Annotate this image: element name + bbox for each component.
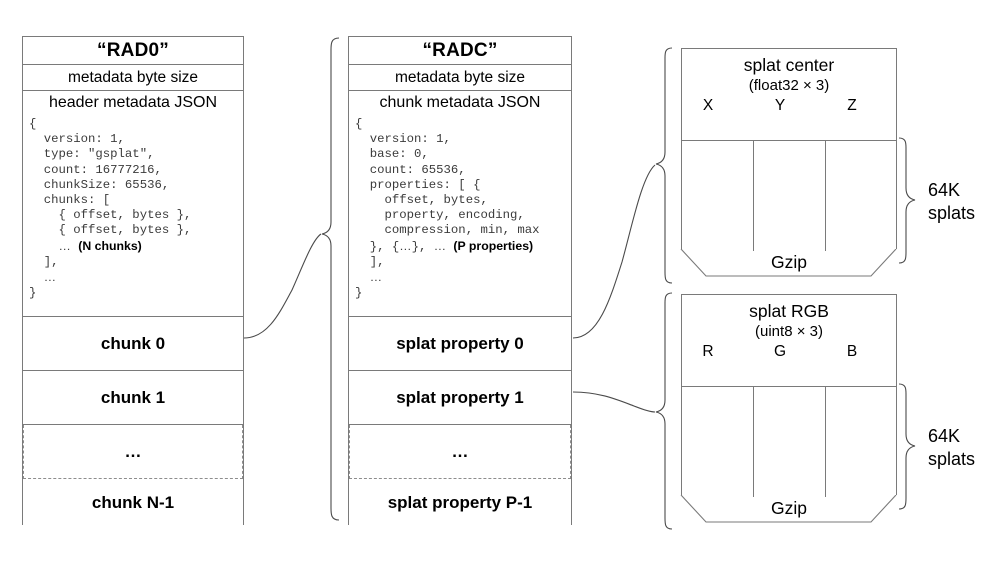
lane-divider-yz — [825, 141, 826, 251]
channel-label-y: Y — [760, 97, 800, 115]
header-magic-label: “RAD0” — [97, 40, 169, 62]
channel-label-r: R — [688, 343, 728, 361]
splat-count-center-line1: 64K — [928, 180, 960, 200]
chunk-json-heading-row: chunk metadata JSON — [349, 91, 571, 114]
splat-rgb-box: splat RGB (uint8 × 3) R G B — [681, 294, 897, 495]
header-column: “RAD0” metadata byte size header metadat… — [22, 36, 244, 525]
chunk-row-property-1-label: splat property 1 — [396, 388, 524, 408]
connector-prop0-to-center — [573, 165, 655, 338]
chunk-json-bold: (P properties) — [453, 239, 533, 253]
chunk-json-body: { version: 1, base: 0, count: 65536, pro… — [349, 114, 571, 301]
splat-rgb-lanes — [682, 386, 896, 497]
chunk-row-property-0[interactable]: splat property 0 — [349, 317, 571, 371]
chunk-json-line-8: }, {…}, … (P properties) — [355, 240, 533, 254]
chunk-row-property-0-label: splat property 0 — [396, 334, 524, 354]
chunk-json-line-7: compression, min, max — [355, 223, 539, 237]
header-json-line-11: } — [29, 286, 36, 300]
gzip-label-rgb: Gzip — [681, 498, 897, 519]
chunk-json-line-11: } — [355, 286, 362, 300]
splat-center-box: splat center (float32 × 3) X Y Z — [681, 48, 897, 249]
brace-splat-rgb-box — [656, 293, 672, 529]
brace-64k-splats-rgb — [899, 384, 915, 509]
header-json-heading-label: header metadata JSON — [49, 94, 217, 112]
chunk-row-property-p-1[interactable]: splat property P-1 — [349, 479, 571, 526]
splat-count-center-line2: splats — [928, 203, 975, 223]
splat-center-title: splat center — [682, 55, 896, 76]
chunk-row-ellipsis: … — [349, 425, 571, 479]
channel-label-g: G — [760, 343, 800, 361]
header-row-chunk-1[interactable]: chunk 1 — [23, 371, 243, 425]
chunk-json-line-6: property, encoding, — [355, 208, 525, 222]
chunk-magic-label: “RADC” — [422, 40, 497, 62]
header-magic-row: “RAD0” — [23, 37, 243, 65]
diagram-canvas: “RAD0” metadata byte size header metadat… — [0, 0, 1000, 563]
chunk-row-ellipsis-label: … — [452, 442, 469, 462]
chunk-metadata-size-label: metadata byte size — [395, 69, 525, 87]
header-json-line-10: … — [29, 271, 56, 285]
header-row-chunk-1-label: chunk 1 — [101, 388, 165, 408]
lane-divider-rg — [753, 387, 754, 497]
channel-label-x: X — [688, 97, 728, 115]
header-json-line-3: count: 16777216, — [29, 163, 162, 177]
splat-rgb-title: splat RGB — [682, 301, 896, 322]
header-json-body: { version: 1, type: "gsplat", count: 167… — [23, 114, 243, 301]
header-metadata-size-row: metadata byte size — [23, 65, 243, 91]
gzip-label-center: Gzip — [681, 252, 897, 273]
splat-count-rgb-line1: 64K — [928, 426, 960, 446]
chunk-magic-row: “RADC” — [349, 37, 571, 65]
header-json-line-1: version: 1, — [29, 132, 125, 146]
chunk-json-line-10: … — [355, 271, 382, 285]
header-json-line-6: { offset, bytes }, — [29, 208, 191, 222]
header-row-chunk-n-1[interactable]: chunk N-1 — [23, 479, 243, 526]
header-json-line-5: chunks: [ — [29, 193, 110, 207]
chunk-json-line-1: version: 1, — [355, 132, 451, 146]
chunk-json-line-9: ], — [355, 255, 385, 269]
chunk-column: “RADC” metadata byte size chunk metadata… — [348, 36, 572, 525]
header-metadata-size-label: metadata byte size — [68, 69, 198, 87]
channel-label-b: B — [832, 343, 872, 361]
splat-count-label-center: 64K splats — [928, 179, 998, 225]
chunk-json-line-2: base: 0, — [355, 147, 429, 161]
brace-64k-splats-center — [899, 138, 915, 263]
connector-prop1-to-rgb — [573, 392, 655, 412]
chunk-row-property-p-1-label: splat property P-1 — [388, 493, 533, 513]
splat-count-label-rgb: 64K splats — [928, 425, 998, 471]
header-json-line-9: ], — [29, 255, 59, 269]
chunk-row-property-1[interactable]: splat property 1 — [349, 371, 571, 425]
header-row-ellipsis: … — [23, 425, 243, 479]
splat-center-type: (float32 × 3) — [682, 77, 896, 94]
splat-rgb-type: (uint8 × 3) — [682, 323, 896, 340]
header-json-line-4: chunkSize: 65536, — [29, 178, 169, 192]
lane-divider-xy — [753, 141, 754, 251]
header-json-line-7: { offset, bytes }, — [29, 223, 191, 237]
lane-divider-gb — [825, 387, 826, 497]
header-row-chunk-0[interactable]: chunk 0 — [23, 317, 243, 371]
header-json-bold: (N chunks) — [78, 239, 142, 253]
header-json-heading-row: header metadata JSON — [23, 91, 243, 114]
brace-splat-center-box — [656, 48, 672, 283]
chunk-metadata-size-row: metadata byte size — [349, 65, 571, 91]
header-json-body-cell: { version: 1, type: "gsplat", count: 167… — [23, 114, 243, 317]
header-json-line-8: … (N chunks) — [29, 240, 142, 254]
splat-count-rgb-line2: splats — [928, 449, 975, 469]
header-json-line-2: type: "gsplat", — [29, 147, 154, 161]
channel-label-z: Z — [832, 97, 872, 115]
chunk-json-heading-label: chunk metadata JSON — [380, 94, 541, 112]
chunk-json-line-0: { — [355, 117, 362, 131]
header-json-line-0: { — [29, 117, 36, 131]
chunk-json-line-4: properties: [ { — [355, 178, 480, 192]
chunk-json-line-5: offset, bytes, — [355, 193, 488, 207]
brace-radc-column — [322, 38, 339, 520]
connector-chunk0-to-radc — [244, 234, 321, 338]
chunk-json-body-cell: { version: 1, base: 0, count: 65536, pro… — [349, 114, 571, 317]
header-row-ellipsis-label: … — [125, 442, 142, 462]
header-row-chunk-0-label: chunk 0 — [101, 334, 165, 354]
splat-center-lanes — [682, 140, 896, 251]
chunk-json-line-3: count: 65536, — [355, 163, 466, 177]
header-row-chunk-n-1-label: chunk N-1 — [92, 493, 174, 513]
